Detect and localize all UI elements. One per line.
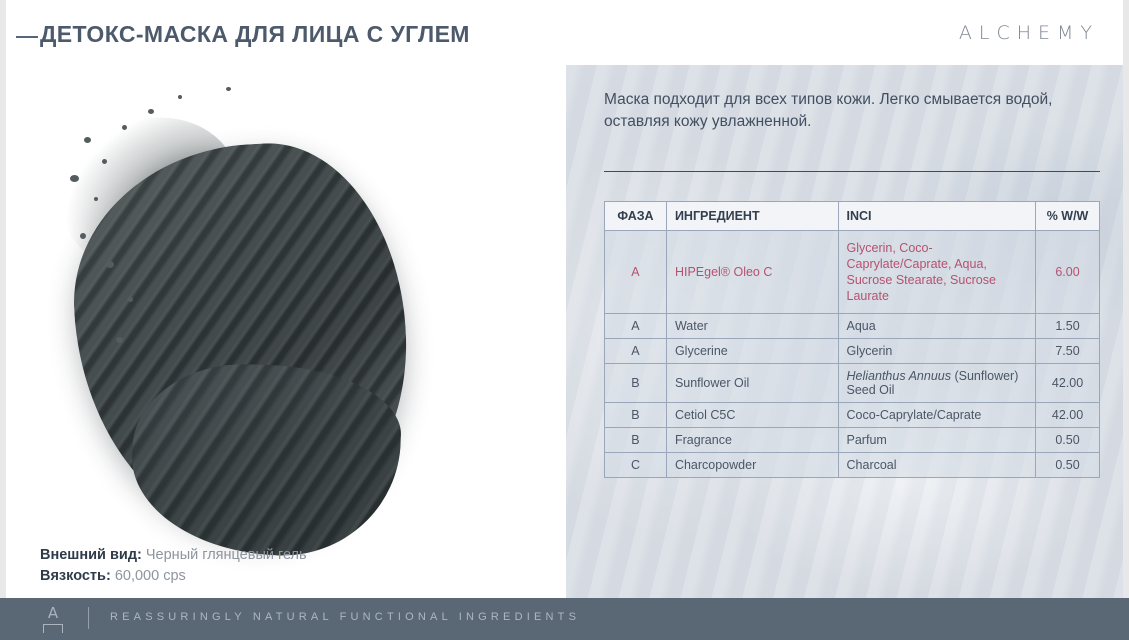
product-image-pane: Внешний вид: Черный глянцевый гель Вязко…: [6, 60, 566, 598]
cell-pct: 0.50: [1036, 428, 1100, 453]
cell-phase: A: [605, 339, 667, 364]
charcoal-mask-photo: [36, 65, 506, 565]
table-header: ФАЗА ИНГРЕДИЕНТ INCI % W/W: [605, 202, 1100, 231]
mark-leg-right: [62, 624, 63, 633]
table-row: C Charcopowder Charcoal 0.50: [605, 453, 1100, 478]
column-header-phase: ФАЗА: [605, 202, 667, 231]
cell-inci: Coco-Caprylate/Caprate: [838, 403, 1036, 428]
mark-letter-a: A: [40, 604, 66, 622]
formulation-pane: Маска подходит для всех типов кожи. Легк…: [566, 65, 1123, 598]
inci-latin-name: Helianthus Annuus: [847, 369, 951, 383]
speck-icon: [102, 159, 107, 164]
speck-icon: [226, 87, 231, 91]
cell-inci: Charcoal: [838, 453, 1036, 478]
table-body: A HIPEgel® Oleo C Glycerin, Coco-Capryla…: [605, 231, 1100, 478]
cell-phase: B: [605, 403, 667, 428]
footer-tagline: REASSURINGLY NATURAL FUNCTIONAL INGREDIE…: [110, 611, 580, 623]
speck-icon: [84, 137, 91, 143]
cell-phase: A: [605, 314, 667, 339]
cell-pct: 6.00: [1036, 231, 1100, 314]
table-row: B Fragrance Parfum 0.50: [605, 428, 1100, 453]
cell-phase: A: [605, 231, 667, 314]
cell-ingredient: Charcopowder: [666, 453, 838, 478]
appearance-label: Внешний вид:: [40, 547, 142, 563]
cell-pct: 7.50: [1036, 339, 1100, 364]
speck-icon: [94, 197, 98, 201]
cell-inci: Aqua: [838, 314, 1036, 339]
cell-phase: B: [605, 364, 667, 403]
title-dash-decoration: [16, 36, 38, 38]
table-row: A HIPEgel® Oleo C Glycerin, Coco-Capryla…: [605, 231, 1100, 314]
viscosity-label: Вязкость:: [40, 568, 111, 584]
smear-lower-body: [129, 360, 403, 559]
column-header-inci: INCI: [838, 202, 1036, 231]
cell-pct: 1.50: [1036, 314, 1100, 339]
slide-footer: A REASSURINGLY NATURAL FUNCTIONAL INGRED…: [0, 598, 1129, 640]
speck-icon: [148, 109, 154, 114]
page-title: ДЕТОКС-МАСКА ДЛЯ ЛИЦА С УГЛЕМ: [40, 21, 470, 48]
cell-inci: Parfum: [838, 428, 1036, 453]
cell-phase: C: [605, 453, 667, 478]
mark-bar: [43, 624, 63, 625]
intro-paragraph: Маска подходит для всех типов кожи. Легк…: [604, 89, 1054, 133]
slide: ДЕТОКС-МАСКА ДЛЯ ЛИЦА С УГЛЕМ ALCHEMY Вн…: [6, 0, 1123, 640]
cell-inci: Glycerin, Coco-Caprylate/Caprate, Aqua, …: [838, 231, 1036, 314]
cell-ingredient: Cetiol C5C: [666, 403, 838, 428]
table-row: A Glycerine Glycerin 7.50: [605, 339, 1100, 364]
cell-pct: 42.00: [1036, 403, 1100, 428]
column-header-ingredient: ИНГРЕДИЕНТ: [666, 202, 838, 231]
speck-icon: [106, 261, 114, 268]
cell-ingredient: Glycerine: [666, 339, 838, 364]
table-row: B Cetiol C5C Coco-Caprylate/Caprate 42.0…: [605, 403, 1100, 428]
alchemy-logo: ALCHEMY: [959, 22, 1099, 44]
cell-pct: 42.00: [1036, 364, 1100, 403]
cell-phase: B: [605, 428, 667, 453]
mark-leg-left: [43, 624, 44, 633]
speck-icon: [80, 233, 86, 239]
alchemy-mark-icon: A: [40, 604, 66, 634]
cell-inci: Helianthus Annuus (Sunflower) Seed Oil: [838, 364, 1036, 403]
product-caption: Внешний вид: Черный глянцевый гель Вязко…: [40, 545, 307, 587]
appearance-value: Черный глянцевый гель: [146, 547, 307, 563]
cell-ingredient: HIPEgel® Oleo C: [666, 231, 838, 314]
slide-header: ДЕТОКС-МАСКА ДЛЯ ЛИЦА С УГЛЕМ ALCHEMY: [6, 0, 1123, 60]
cell-ingredient: Sunflower Oil: [666, 364, 838, 403]
column-header-pct: % W/W: [1036, 202, 1100, 231]
cell-pct: 0.50: [1036, 453, 1100, 478]
cell-ingredient: Fragrance: [666, 428, 838, 453]
footer-divider: [88, 607, 89, 629]
cell-inci: Glycerin: [838, 339, 1036, 364]
table-header-row: ФАЗА ИНГРЕДИЕНТ INCI % W/W: [605, 202, 1100, 231]
table-row: B Sunflower Oil Helianthus Annuus (Sunfl…: [605, 364, 1100, 403]
speck-icon: [178, 95, 182, 99]
speck-icon: [116, 337, 123, 343]
section-divider: [604, 171, 1100, 172]
table-row: A Water Aqua 1.50: [605, 314, 1100, 339]
speck-icon: [70, 175, 79, 182]
formulation-table: ФАЗА ИНГРЕДИЕНТ INCI % W/W A HIPEgel® Ol…: [604, 201, 1100, 478]
viscosity-value: 60,000 cps: [115, 568, 186, 584]
cell-ingredient: Water: [666, 314, 838, 339]
speck-icon: [122, 125, 127, 130]
speck-icon: [128, 297, 133, 302]
